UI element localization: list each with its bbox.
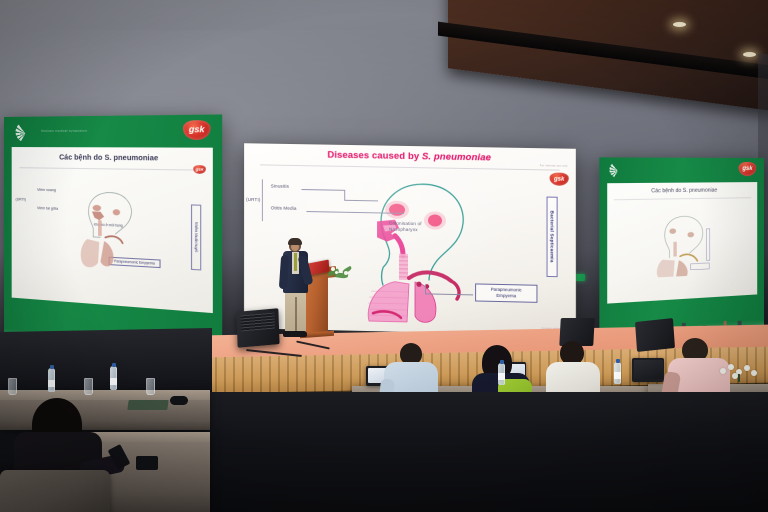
anatomy-illustration <box>339 167 529 327</box>
speaker-grill <box>241 313 276 332</box>
leader-sinusitis-drop <box>344 190 345 200</box>
label-otitis-media: Otitis Media <box>271 205 297 210</box>
presenter-tie <box>294 253 297 271</box>
bottle-label <box>498 373 505 380</box>
bottle-label <box>614 372 621 379</box>
label-sinusitis: Sinusitis <box>271 183 289 188</box>
stage-monitor-speaker <box>236 308 279 348</box>
leader-sinusitis <box>301 189 345 191</box>
label-colonisation-2: Nasopharynx <box>389 227 418 233</box>
drinking-glass[interactable] <box>146 378 155 395</box>
bottle-cap <box>112 363 116 367</box>
left-panel-slide: Các bệnh do S. pneumoniae gsk (URTI) Viê… <box>12 147 213 313</box>
panel-header-subtext: Vietnam medical symposium <box>41 129 87 133</box>
label-urti: (URTI) <box>246 197 260 202</box>
bottle-cap <box>616 359 620 363</box>
label-bacterial-septicaemia: Bacterial Septicaemia <box>547 197 558 278</box>
left-slide-rule <box>19 167 203 170</box>
urti-brace <box>262 179 263 221</box>
downlight-icon <box>743 52 756 57</box>
right-anatomy-illustration <box>634 200 734 287</box>
empyema-line-1: Parapneumonic <box>491 287 522 293</box>
anatomy-svg <box>339 167 529 327</box>
left-label-urti: (URTI) <box>16 197 26 201</box>
drinking-glass[interactable] <box>84 378 93 395</box>
presenter-leg-split <box>295 297 297 331</box>
gsk-logo-text: gsk <box>554 176 564 182</box>
gsk-logo-text: gsk <box>742 166 752 172</box>
presenter-shoes <box>283 331 307 337</box>
bottle-cap <box>500 360 504 364</box>
gsk-logo-icon: gsk <box>550 172 569 185</box>
presenter-speaker <box>276 239 314 339</box>
label-parapneumonic-empyema: Parapneumonic Empyema <box>475 283 537 302</box>
podium-flower-arrangement <box>326 262 356 282</box>
laptop-screen <box>634 360 663 380</box>
right-slide-title: Các bệnh do S. pneumoniae <box>607 187 757 195</box>
empyema-line-2: Empyema <box>496 293 516 298</box>
water-bottle[interactable] <box>48 368 55 392</box>
bottle-cap <box>50 365 54 369</box>
attendee-chair <box>0 470 110 512</box>
headset-device[interactable] <box>170 396 188 405</box>
gsk-logo-text: gsk <box>189 126 205 135</box>
leader-empyema-rise <box>425 284 426 294</box>
notepad[interactable] <box>127 400 168 410</box>
stage-left-dark-area <box>0 328 212 398</box>
slide-gsk-text: gsk <box>196 167 204 171</box>
main-slide-title-prefix: Diseases caused by <box>327 150 422 163</box>
downlight-icon <box>673 22 686 27</box>
bottle-label <box>48 380 55 387</box>
left-label-septicaemia: Nhiễm khuẩn huyết <box>191 204 201 270</box>
water-bottle[interactable] <box>110 366 117 390</box>
left-slide-title: Các bệnh do S. pneumoniae <box>12 154 213 163</box>
fan-logo-icon <box>609 162 626 178</box>
drinking-glass[interactable] <box>8 378 17 395</box>
left-anatomy-illustration <box>53 174 170 284</box>
attendee-laptop[interactable] <box>632 358 664 382</box>
main-slide-title-species: S. pneumoniae <box>422 151 491 163</box>
label-colonisation-1: Colonisation of <box>389 221 422 227</box>
conference-photo-scene: Vietnam medical symposium gsk Các bệnh d… <box>0 0 768 512</box>
water-bottle[interactable] <box>614 362 621 384</box>
flower-vase <box>718 360 762 382</box>
slide-gsk-logo-icon: gsk <box>193 165 206 174</box>
fan-logo-icon <box>16 122 36 142</box>
water-bottle[interactable] <box>498 363 505 385</box>
presenter-hair <box>288 238 302 245</box>
right-panel-slide: Các bệnh do S. pneumoniae <box>607 182 757 304</box>
main-slide-corner-note: For internal use only <box>540 164 568 168</box>
smartphone[interactable] <box>136 456 158 470</box>
main-slide-title: Diseases caused by S. pneumoniae <box>300 149 520 164</box>
bottle-label <box>110 378 117 385</box>
